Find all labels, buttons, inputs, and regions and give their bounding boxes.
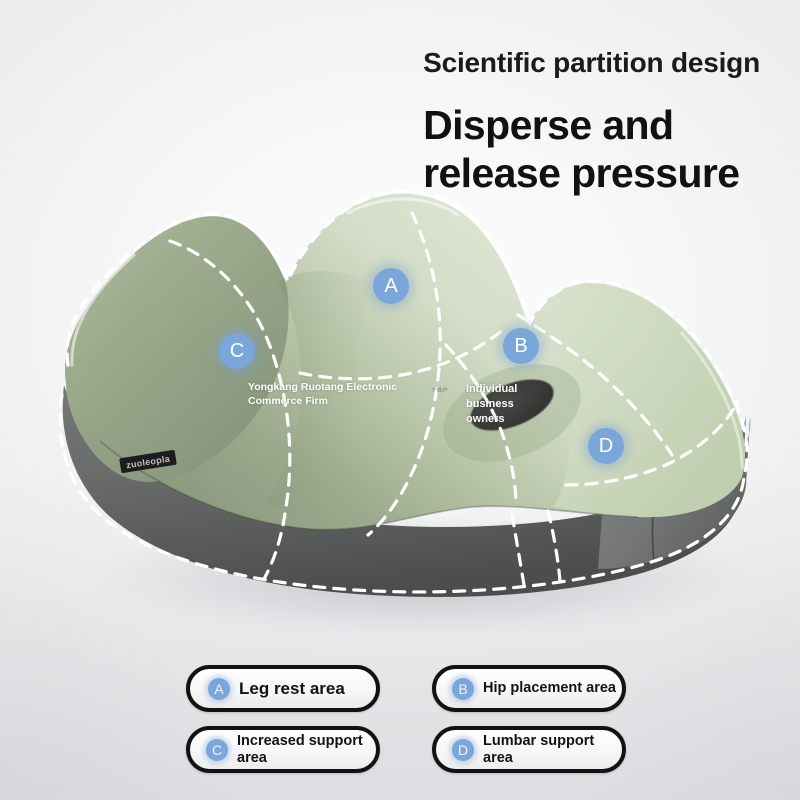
legend-label-d: Lumbar support area [483, 733, 622, 766]
legend-badge-d: D [452, 739, 474, 761]
cushion-svg [42, 185, 772, 645]
zone-marker-b-label: B [514, 335, 527, 358]
legend-item-c[interactable]: C Increased support area [186, 726, 380, 773]
product-illustration [42, 185, 772, 645]
legend-badge-a: A [208, 678, 230, 700]
zone-marker-a-label: A [384, 275, 397, 298]
legend: A Leg rest area B Hip placement area C I… [186, 665, 626, 773]
legend-badge-c: C [206, 739, 228, 761]
legend-badge-b: B [452, 678, 474, 700]
zone-marker-c-label: C [230, 340, 244, 363]
kicker-text: Scientific partition design [423, 48, 760, 79]
page-title: Disperse and release pressure [423, 101, 760, 198]
legend-badge-c-letter: C [212, 742, 222, 758]
legend-item-d[interactable]: D Lumbar support area [432, 726, 626, 773]
zone-marker-a[interactable]: A [373, 268, 409, 304]
zone-marker-d[interactable]: D [588, 428, 624, 464]
zone-marker-b[interactable]: B [503, 328, 539, 364]
legend-label-b: Hip placement area [483, 680, 616, 697]
headline-block: Scientific partition design Disperse and… [423, 48, 760, 198]
headline-line-1: Disperse and [423, 102, 673, 148]
legend-label-c: Increased support area [237, 733, 376, 766]
legend-badge-d-letter: D [458, 742, 468, 758]
zone-marker-d-label: D [599, 435, 613, 458]
legend-label-a: Leg rest area [239, 679, 345, 699]
legend-item-a[interactable]: A Leg rest area [186, 665, 380, 712]
legend-badge-b-letter: B [458, 681, 467, 697]
zone-marker-c[interactable]: C [219, 333, 255, 369]
legend-item-b[interactable]: B Hip placement area [432, 665, 626, 712]
headline-line-2: release pressure [423, 149, 760, 197]
legend-badge-a-letter: A [214, 681, 223, 697]
product-marketing-image: Scientific partition design Disperse and… [0, 0, 800, 800]
